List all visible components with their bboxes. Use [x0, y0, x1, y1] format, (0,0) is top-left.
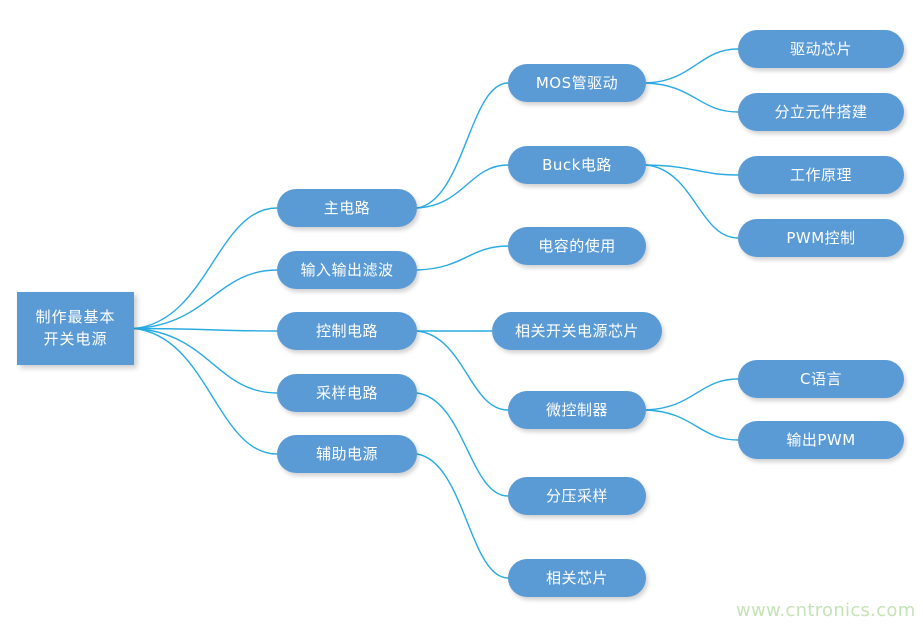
watermark-text: www.cntronics.com: [736, 600, 916, 621]
connector-root-to-n-main: [134, 208, 277, 329]
node-label: 制作最基本开关电源: [35, 307, 115, 351]
connector-n-main-to-n-mos: [417, 83, 508, 208]
connector-root-to-n-ctrl: [134, 329, 277, 332]
node-label: 主电路: [324, 199, 371, 218]
connector-root-to-n-aux: [134, 329, 277, 455]
node-label: C语言: [800, 370, 842, 389]
node-label: 分压采样: [546, 487, 608, 506]
mindmap-node-n-filter[interactable]: 输入输出滤波: [277, 251, 417, 289]
node-label: 相关开关电源芯片: [515, 322, 639, 341]
mindmap-node-n-cap[interactable]: 电容的使用: [508, 227, 646, 265]
connector-n-aux-to-n-rchip: [417, 454, 508, 578]
connector-root-to-n-filter: [134, 270, 277, 329]
mindmap-node-n-main[interactable]: 主电路: [277, 189, 417, 227]
mindmap-node-n-c[interactable]: C语言: [738, 360, 904, 398]
connector-n-ctrl-to-n-mcu: [417, 331, 508, 410]
node-label: Buck电路: [542, 156, 612, 175]
mindmap-node-n-chip[interactable]: 相关开关电源芯片: [492, 312, 662, 350]
node-label: 控制电路: [316, 322, 378, 341]
connector-n-buck-to-n-theory: [646, 165, 738, 175]
node-label: 相关芯片: [546, 569, 608, 588]
node-label: 输入输出滤波: [300, 261, 393, 280]
connector-n-main-to-n-buck: [417, 165, 508, 208]
node-label: 分立元件搭建: [774, 103, 867, 122]
connector-n-mcu-to-n-opwm: [646, 410, 738, 440]
node-label: MOS管驱动: [536, 74, 618, 93]
mindmap-node-n-mcu[interactable]: 微控制器: [508, 391, 646, 429]
connector-root-to-n-sample: [134, 329, 277, 394]
node-label: 工作原理: [790, 166, 852, 185]
connector-n-mcu-to-n-c: [646, 379, 738, 410]
node-label: 辅助电源: [316, 445, 378, 464]
connector-n-buck-to-n-pwm: [646, 165, 738, 238]
mindmap-node-root[interactable]: 制作最基本开关电源: [17, 292, 134, 365]
mindmap-node-n-mos[interactable]: MOS管驱动: [508, 64, 646, 102]
connector-n-mos-to-n-disc: [646, 83, 738, 112]
node-label: 输出PWM: [786, 431, 855, 450]
mindmap-node-n-sample[interactable]: 采样电路: [277, 374, 417, 412]
node-label: PWM控制: [786, 229, 855, 248]
mindmap-node-n-drv[interactable]: 驱动芯片: [738, 30, 904, 68]
mindmap-node-n-aux[interactable]: 辅助电源: [277, 435, 417, 473]
connector-n-sample-to-n-div: [417, 393, 508, 496]
mindmap-node-n-opwm[interactable]: 输出PWM: [738, 421, 904, 459]
mindmap-node-n-rchip[interactable]: 相关芯片: [508, 559, 646, 597]
mindmap-node-n-buck[interactable]: Buck电路: [508, 146, 646, 184]
connector-n-filter-to-n-cap: [417, 246, 508, 270]
mindmap-canvas: 制作最基本开关电源主电路输入输出滤波控制电路采样电路辅助电源MOS管驱动Buck…: [0, 0, 923, 629]
connector-n-mos-to-n-drv: [646, 49, 738, 83]
node-label: 微控制器: [546, 401, 608, 420]
mindmap-node-n-pwm[interactable]: PWM控制: [738, 219, 904, 257]
node-label: 电容的使用: [538, 237, 616, 256]
node-label: 驱动芯片: [790, 40, 852, 59]
node-label: 采样电路: [316, 384, 378, 403]
mindmap-node-n-div[interactable]: 分压采样: [508, 477, 646, 515]
mindmap-node-n-theory[interactable]: 工作原理: [738, 156, 904, 194]
mindmap-node-n-ctrl[interactable]: 控制电路: [277, 312, 417, 350]
mindmap-node-n-disc[interactable]: 分立元件搭建: [738, 93, 904, 131]
